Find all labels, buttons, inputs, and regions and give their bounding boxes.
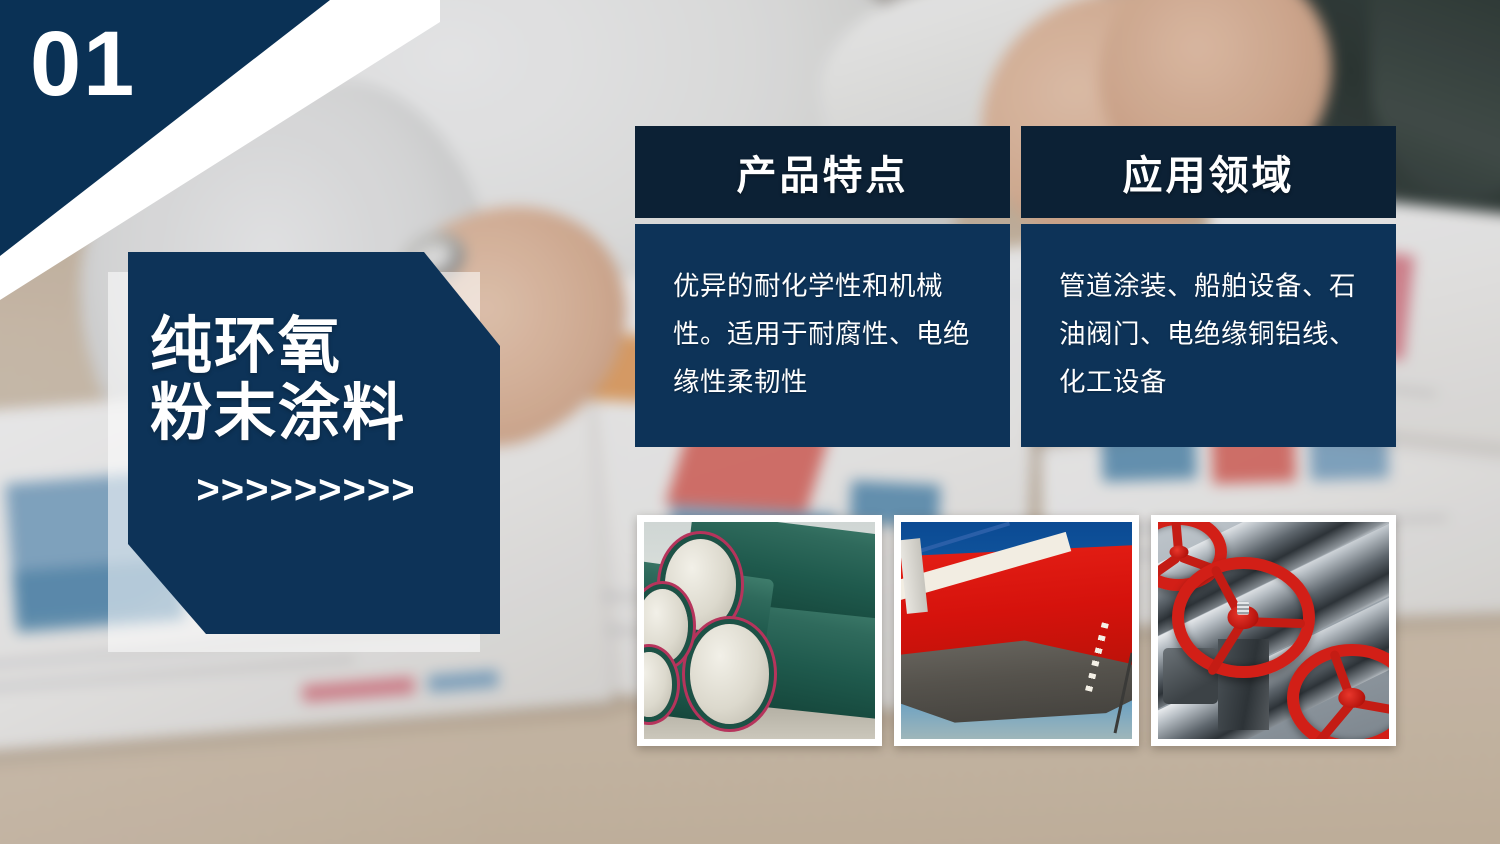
panel-body-application-areas: 管道涂装、船舶设备、石油阀门、电绝缘铜铝线、化工设备 bbox=[1021, 224, 1396, 447]
title-badge: 纯环氧 粉末涂料 >>>>>>>>> bbox=[128, 252, 500, 634]
chevron-arrows-icon: >>>>>>>>> bbox=[128, 468, 500, 513]
section-number: 01 bbox=[30, 18, 136, 110]
panel-application-areas: 应用领域 管道涂装、船舶设备、石油阀门、电绝缘铜铝线、化工设备 bbox=[1021, 126, 1396, 447]
photo-red-ship-hull bbox=[894, 515, 1139, 746]
photo-red-valve-handwheels bbox=[1151, 515, 1396, 746]
info-panels: 产品特点 优异的耐化学性和机械性。适用于耐腐性、电绝缘性柔韧性 应用领域 管道涂… bbox=[635, 126, 1396, 447]
panel-text: 管道涂装、船舶设备、石油阀门、电绝缘铜铝线、化工设备 bbox=[1059, 262, 1366, 407]
slide-canvas: 01 纯环氧 粉末涂料 >>>>>>>>> 产品特点 优异的耐化学性和机械性。适… bbox=[0, 0, 1500, 844]
panel-header-product-features: 产品特点 bbox=[635, 126, 1010, 218]
photo-strip bbox=[637, 515, 1396, 746]
panel-header-application-areas: 应用领域 bbox=[1021, 126, 1396, 218]
title-badge-text: 纯环氧 粉末涂料 bbox=[128, 314, 500, 448]
title-line-1: 纯环氧 bbox=[150, 314, 500, 381]
title-line-2: 粉末涂料 bbox=[150, 381, 500, 448]
panel-product-features: 产品特点 优异的耐化学性和机械性。适用于耐腐性、电绝缘性柔韧性 bbox=[635, 126, 1010, 447]
panel-title: 应用领域 bbox=[1123, 143, 1295, 201]
photo-coated-steel-pipes bbox=[637, 515, 882, 746]
panel-body-product-features: 优异的耐化学性和机械性。适用于耐腐性、电绝缘性柔韧性 bbox=[635, 224, 1010, 447]
panel-title: 产品特点 bbox=[737, 143, 909, 201]
panel-text: 优异的耐化学性和机械性。适用于耐腐性、电绝缘性柔韧性 bbox=[673, 262, 980, 407]
